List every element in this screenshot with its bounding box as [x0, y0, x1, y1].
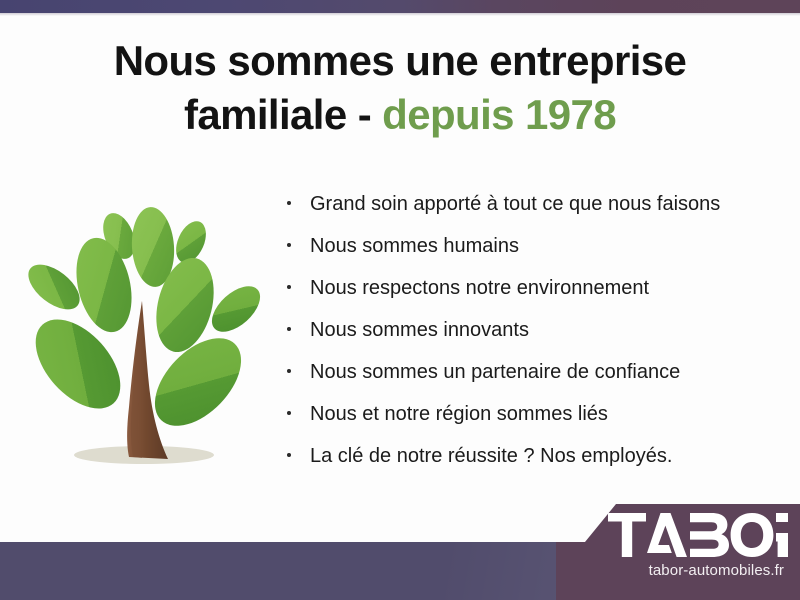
bullet-dot-icon [287, 285, 291, 289]
list-item-label: Nous sommes innovants [310, 319, 529, 341]
list-item: Nous et notre région sommes liés [283, 402, 773, 426]
bullet-dot-icon [287, 453, 291, 457]
tree-illustration [16, 182, 266, 487]
page-title: Nous sommes une entreprise familiale - d… [0, 34, 800, 142]
bullet-dot-icon [287, 327, 291, 331]
bullet-dot-icon [287, 243, 291, 247]
top-band-shadow [0, 13, 800, 16]
list-item: Nous sommes un partenaire de confiance [283, 360, 773, 384]
title-line-2-black: familiale - [184, 91, 382, 138]
brand-url: tabor-automobiles.fr [556, 562, 800, 579]
list-item-label: Nous et notre région sommes liés [310, 403, 608, 425]
list-item: Nous respectons notre environnement [283, 276, 773, 300]
tree-svg [16, 182, 266, 487]
list-item-label: Nous sommes humains [310, 235, 519, 257]
title-line-1: Nous sommes une entreprise [0, 34, 800, 88]
slide-canvas: Nous sommes une entreprise familiale - d… [0, 0, 800, 600]
bullet-dot-icon [287, 201, 291, 205]
list-item: Grand soin apporté à tout ce que nous fa… [283, 192, 773, 216]
brand-logo-panel: tabor-automobiles.fr [556, 504, 800, 600]
list-item-label: Nous respectons notre environnement [310, 277, 649, 299]
value-bullet-list: Grand soin apporté à tout ce que nous fa… [283, 192, 773, 468]
top-accent-band [0, 0, 800, 13]
bullet-dot-icon [287, 411, 291, 415]
leaf-9 [139, 322, 257, 441]
list-item: Nous sommes humains [283, 234, 773, 258]
tabor-wordmark-logo [608, 513, 788, 557]
bullet-dot-icon [287, 369, 291, 373]
list-item-label: Grand soin apporté à tout ce que nous fa… [310, 193, 720, 215]
title-line-2: familiale - depuis 1978 [0, 88, 800, 142]
list-item: La clé de notre réussite ? Nos employés. [283, 444, 773, 468]
title-line-2-accent: depuis 1978 [382, 91, 616, 138]
list-item-label: La clé de notre réussite ? Nos employés. [310, 445, 672, 467]
list-item: Nous sommes innovants [283, 318, 773, 342]
list-item-label: Nous sommes un partenaire de confiance [310, 361, 680, 383]
